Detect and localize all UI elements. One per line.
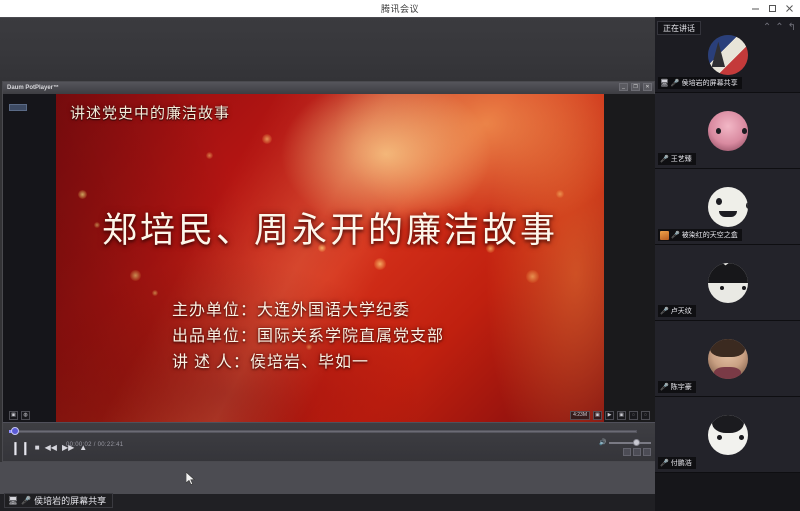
participant-tile[interactable]: 🎤 付鹏浩 xyxy=(655,397,800,473)
fullscreen-button[interactable] xyxy=(643,448,651,456)
participant-tile[interactable]: 🎤 陈宇豪 xyxy=(655,321,800,397)
speaking-label: 正在讲话 xyxy=(663,23,695,34)
osd-prev-icon[interactable]: ◌ xyxy=(629,411,638,420)
credit-value: 大连外国语大学纪委 xyxy=(257,302,410,319)
participant-name-chip: 🎤 被染红的天空之盒 xyxy=(658,229,742,241)
osd-subtitle-icon[interactable]: ▣ xyxy=(9,411,18,420)
participant-tile[interactable]: 🎤 被染红的天空之盒 xyxy=(655,169,800,245)
volume-slider[interactable]: 🔊 xyxy=(599,439,651,447)
participant-tile[interactable]: 🎤 王艺臻 xyxy=(655,93,800,169)
media-player-window[interactable]: Daum PotPlayer™ _ ❐ ✕ xyxy=(2,81,655,462)
presentation-slide: 讲述党史中的廉洁故事 郑培民、周永开的廉洁故事 主办单位：大连外国语大学纪委 出… xyxy=(56,94,604,424)
share-badge-label: 侯培岩的屏幕共享 xyxy=(34,494,106,507)
player-titlebar: Daum PotPlayer™ _ ❐ ✕ xyxy=(3,82,654,94)
credit-row: 讲 述 人：侯培岩、毕如一 xyxy=(172,350,592,376)
microphone-icon: 🎤 xyxy=(671,232,680,239)
monitor-icon: 🖥 xyxy=(8,497,18,505)
osd-screenshot-icon[interactable]: ▣ xyxy=(593,411,602,420)
microphone-icon: 🎤 xyxy=(660,460,669,467)
video-letterbox-left xyxy=(3,94,56,424)
shared-desktop-bottom-strip xyxy=(0,462,655,494)
playlist-button[interactable] xyxy=(623,448,631,456)
osd-play-icon[interactable]: ▶ xyxy=(605,411,614,420)
previous-button[interactable]: ◀◀ xyxy=(45,444,57,452)
close-icon[interactable] xyxy=(781,0,798,17)
settings-button[interactable] xyxy=(633,448,641,456)
microphone-icon: 🎤 xyxy=(21,497,31,505)
participant-name: 被染红的天空之盒 xyxy=(682,230,738,240)
stop-button[interactable]: ■ xyxy=(35,444,40,452)
participant-name: 卢天纹 xyxy=(671,306,692,316)
participant-tile[interactable]: 正在讲话 ⌃ ⌃ ↰ 🖥 🎤 侯培岩的屏幕共享 xyxy=(655,17,800,93)
avatar xyxy=(708,415,748,455)
microphone-icon: 🎤 xyxy=(660,308,669,315)
player-osd-left: ▣ ◍ xyxy=(9,411,30,420)
osd-audio-icon[interactable]: ◍ xyxy=(21,411,30,420)
participant-tile[interactable]: 🎤 卢天纹 xyxy=(655,245,800,321)
back-arrow-icon[interactable]: ↰ xyxy=(788,23,796,33)
rail-top-icons: ⌃ ⌃ ↰ xyxy=(763,23,796,33)
avatar xyxy=(708,187,748,227)
pause-button[interactable]: ❙❙ xyxy=(10,441,30,454)
credit-value: 侯培岩、毕如一 xyxy=(250,354,369,371)
credit-row: 出品单位：国际关系学院直属党支部 xyxy=(172,324,592,350)
slide-main-title: 郑培民、周永开的廉洁故事 xyxy=(56,202,604,253)
osd-playlist-icon[interactable]: ▣ xyxy=(617,411,626,420)
credit-label: 主办单位： xyxy=(172,298,257,324)
osd-next-icon[interactable]: ◌ xyxy=(641,411,650,420)
credit-value: 国际关系学院直属党支部 xyxy=(257,328,444,345)
shared-screen-stage[interactable]: Daum PotPlayer™ _ ❐ ✕ xyxy=(0,17,655,494)
window-titlebar: 腾讯会议 xyxy=(0,0,800,17)
player-maximize-icon[interactable]: ❐ xyxy=(631,83,640,91)
microphone-icon: 🎤 xyxy=(660,156,669,163)
slide-credits: 主办单位：大连外国语大学纪委 出品单位：国际关系学院直属党支部 讲 述 人：侯培… xyxy=(172,298,592,376)
slide-eyebrow-text: 讲述党史中的廉洁故事 xyxy=(70,102,230,123)
seek-bar[interactable] xyxy=(9,427,637,435)
participant-rail[interactable]: 正在讲话 ⌃ ⌃ ↰ 🖥 🎤 侯培岩的屏幕共享 🎤 王艺臻 xyxy=(655,17,800,511)
player-close-icon[interactable]: ✕ xyxy=(643,83,652,91)
participant-name: 侯培岩的屏幕共享 xyxy=(682,78,738,88)
chevron-up-icon[interactable]: ⌃ xyxy=(775,23,783,33)
monitor-icon: 🖥 xyxy=(660,80,669,87)
volume-handle[interactable] xyxy=(633,439,640,446)
tencent-meeting-window: 腾讯会议 Daum PotPlayer™ _ ❐ ✕ xyxy=(0,0,800,511)
microphone-icon: 🎤 xyxy=(660,384,669,391)
participant-name-chip: 🎤 王艺臻 xyxy=(658,153,696,165)
avatar-thumb-icon xyxy=(660,231,669,240)
osd-bitrate-label: 4:23M xyxy=(570,411,590,420)
credit-row: 主办单位：大连外国语大学纪委 xyxy=(172,298,592,324)
player-minimize-icon[interactable]: _ xyxy=(619,83,628,91)
credit-label: 讲 述 人： xyxy=(172,350,250,376)
status-badge: 🖥 🎤 侯培岩的屏幕共享 xyxy=(4,493,113,508)
playback-time-label: 00:00:02 / 00:22:41 xyxy=(66,442,123,448)
participant-name: 陈宇豪 xyxy=(671,382,692,392)
minimize-icon[interactable] xyxy=(747,0,764,17)
participant-name-chip: 🎤 卢天纹 xyxy=(658,305,696,317)
participant-name: 付鹏浩 xyxy=(671,458,692,468)
avatar xyxy=(708,263,748,303)
speaking-indicator: 正在讲话 xyxy=(657,21,701,35)
seek-handle[interactable] xyxy=(11,427,19,435)
shared-desktop-top-strip xyxy=(0,17,655,80)
desktop-divider xyxy=(0,17,655,18)
player-control-bar: 🔊 ❙❙ ■ ◀◀ ▶▶ ▲ 00:00:02 / 00:22:41 xyxy=(3,422,655,461)
player-extra-buttons xyxy=(623,448,651,456)
microphone-icon: 🎤 xyxy=(671,80,680,87)
maximize-icon[interactable] xyxy=(764,0,781,17)
window-title: 腾讯会议 xyxy=(381,2,419,15)
player-osd-right: 4:23M ▣ ▶ ▣ ◌ ◌ xyxy=(570,411,650,420)
seek-track[interactable] xyxy=(9,430,637,433)
avatar xyxy=(708,339,748,379)
player-window-controls: _ ❐ ✕ xyxy=(619,83,652,91)
avatar xyxy=(708,111,748,151)
participant-name: 王艺臻 xyxy=(671,154,692,164)
volume-track[interactable] xyxy=(609,442,651,444)
chevron-up-icon[interactable]: ⌃ xyxy=(763,23,771,33)
speaker-icon[interactable]: 🔊 xyxy=(599,439,606,446)
participant-name-chip: 🎤 付鹏浩 xyxy=(658,457,696,469)
participant-name-chip: 🖥 🎤 侯培岩的屏幕共享 xyxy=(658,77,742,89)
window-controls xyxy=(747,0,798,17)
credit-label: 出品单位： xyxy=(172,324,257,350)
video-surface[interactable]: 讲述党史中的廉洁故事 郑培民、周永开的廉洁故事 主办单位：大连外国语大学纪委 出… xyxy=(3,94,655,424)
participant-name-chip: 🎤 陈宇豪 xyxy=(658,381,696,393)
avatar xyxy=(708,35,748,75)
video-corner-thumb xyxy=(9,104,27,111)
player-app-title: Daum PotPlayer™ xyxy=(3,85,59,91)
